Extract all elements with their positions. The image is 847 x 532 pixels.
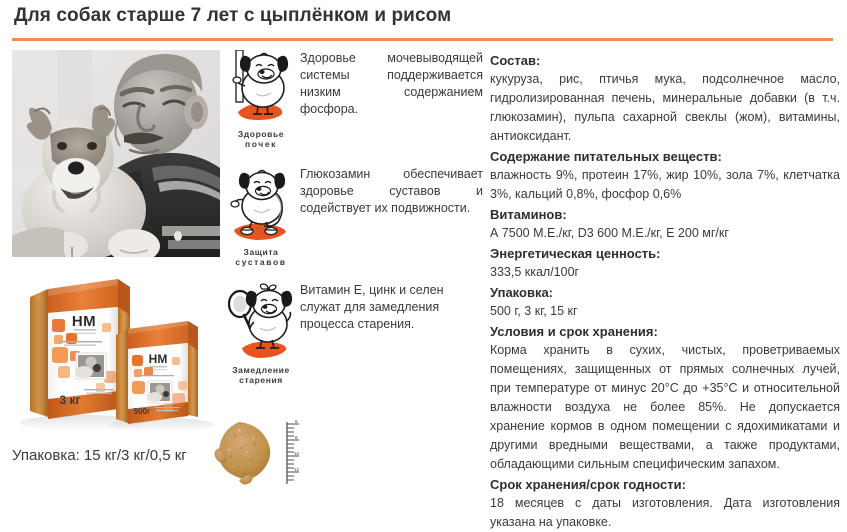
svg-text:HM: HM xyxy=(149,352,168,366)
benefit-icon-label: Защита суставов xyxy=(228,247,294,267)
spec-heading: Энергетическая ценность: xyxy=(490,244,840,263)
page-title: Для собак старше 7 лет с цыплёнком и рис… xyxy=(14,5,451,27)
spec-heading: Витаминов: xyxy=(490,205,840,224)
benefit-icon-label: Замедление старения xyxy=(228,365,294,385)
spec-body: влажность 9%, протеин 17%, жир 10%, зола… xyxy=(490,166,840,204)
spec-heading: Срок хранения/срок годности: xyxy=(490,475,840,494)
left-column: HM 3 кг xyxy=(12,50,224,464)
svg-text:8: 8 xyxy=(295,435,298,440)
dog-anti-aging-mirror-icon: Замедление старения xyxy=(228,282,294,385)
spec-heading: Упаковка: xyxy=(490,283,840,302)
benefit-item: Замедление старения Витамин Е, цинк и се… xyxy=(228,282,483,388)
svg-text:500г: 500г xyxy=(134,407,151,416)
svg-text:12: 12 xyxy=(294,467,300,472)
svg-text:HM: HM xyxy=(72,313,96,330)
spec-body: 333,5 ккал/100г xyxy=(490,263,840,282)
elderly-man-with-fox-terrier-photo xyxy=(12,50,220,257)
bag-500g: HM 500г xyxy=(116,321,198,424)
kibble-with-ruler: 6 8 10 12 xyxy=(209,418,301,488)
spec-heading: Условия и срок хранения: xyxy=(490,322,840,341)
bag-3kg: HM 3 кг xyxy=(30,279,130,419)
spec-body: 500 г, 3 кг, 15 кг xyxy=(490,302,840,321)
benefit-icon-label: Здоровье почек xyxy=(228,129,294,149)
spec-heading: Состав: xyxy=(490,51,840,70)
packaging-caption: Упаковка: 15 кг/3 кг/0,5 кг xyxy=(12,447,224,464)
benefit-description: Здоровье мочевыводящей системы поддержив… xyxy=(300,50,483,118)
svg-text:6: 6 xyxy=(295,419,298,424)
product-info-page: Для собак старше 7 лет с цыплёнком и рис… xyxy=(0,0,847,512)
benefit-description: Глюкозамин обеспечивает здоровье суставо… xyxy=(300,166,483,217)
spec-body: Корма хранить в сухих, чистых, проветрив… xyxy=(490,341,840,474)
spec-body: А 7500 М.Е./кг, D3 600 М.Е./кг, Е 200 мг… xyxy=(490,224,840,243)
product-packaging-bags: HM 3 кг xyxy=(12,273,224,435)
title-divider xyxy=(12,38,833,41)
spec-body: кукуруза, рис, птичья мука, подсолнечное… xyxy=(490,70,840,146)
specifications-column: Состав: кукуруза, рис, птичья мука, подс… xyxy=(490,50,840,532)
dog-joint-protection-icon: Защита суставов xyxy=(228,166,294,267)
dog-kidney-health-icon: Здоровье почек xyxy=(228,50,294,149)
spec-body: 18 месяцев с даты изготовления. Дата изг… xyxy=(490,494,840,532)
benefit-description: Витамин Е, цинк и селен служат для замед… xyxy=(300,282,483,333)
svg-text:3 кг: 3 кг xyxy=(59,393,80,407)
benefit-item: Защита суставов Глюкозамин обеспечивает … xyxy=(228,166,483,272)
spec-heading: Содержание питательных веществ: xyxy=(490,147,840,166)
benefits-column: Здоровье почек Здоровье мочевыводящей си… xyxy=(228,50,483,388)
svg-text:10: 10 xyxy=(294,451,300,456)
benefit-item: Здоровье почек Здоровье мочевыводящей си… xyxy=(228,50,483,156)
